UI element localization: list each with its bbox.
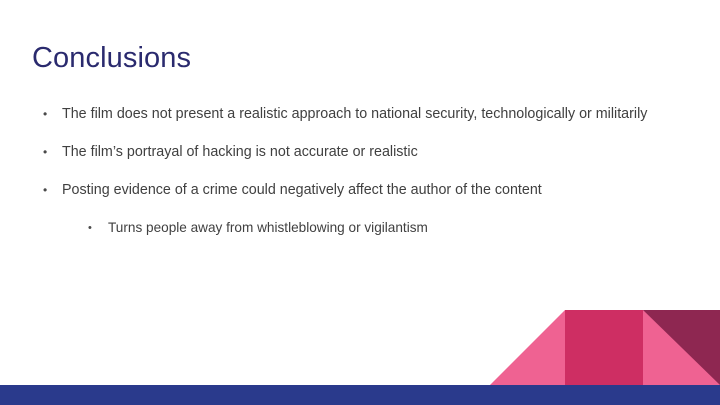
bullet-point-icon: • — [40, 104, 62, 125]
list-item-text: The film does not present a realistic ap… — [62, 104, 662, 125]
page-title: Conclusions — [32, 41, 191, 75]
slide-canvas: Conclusions • The film does not present … — [0, 0, 720, 405]
bullet-list: • The film does not present a realistic … — [40, 104, 695, 238]
dark-maroon-triangle — [643, 310, 720, 385]
list-item-text: Turns people away from whistleblowing or… — [108, 218, 695, 238]
list-item: • Posting evidence of a crime could nega… — [40, 180, 695, 201]
list-item: • The film does not present a realistic … — [40, 104, 695, 125]
bullet-point-icon: • — [40, 142, 62, 163]
bullet-point-icon: • — [40, 180, 62, 201]
list-item: • The film’s portrayal of hacking is not… — [40, 142, 695, 163]
magenta-rectangle — [565, 310, 643, 385]
footer-band — [0, 385, 720, 405]
list-item-text: Posting evidence of a crime could negati… — [62, 180, 662, 201]
light-pink-trapezoid — [490, 310, 720, 385]
list-item-sub: • Turns people away from whistleblowing … — [85, 218, 695, 238]
bullet-point-icon: • — [85, 218, 108, 238]
list-item-text: The film’s portrayal of hacking is not a… — [62, 142, 662, 163]
